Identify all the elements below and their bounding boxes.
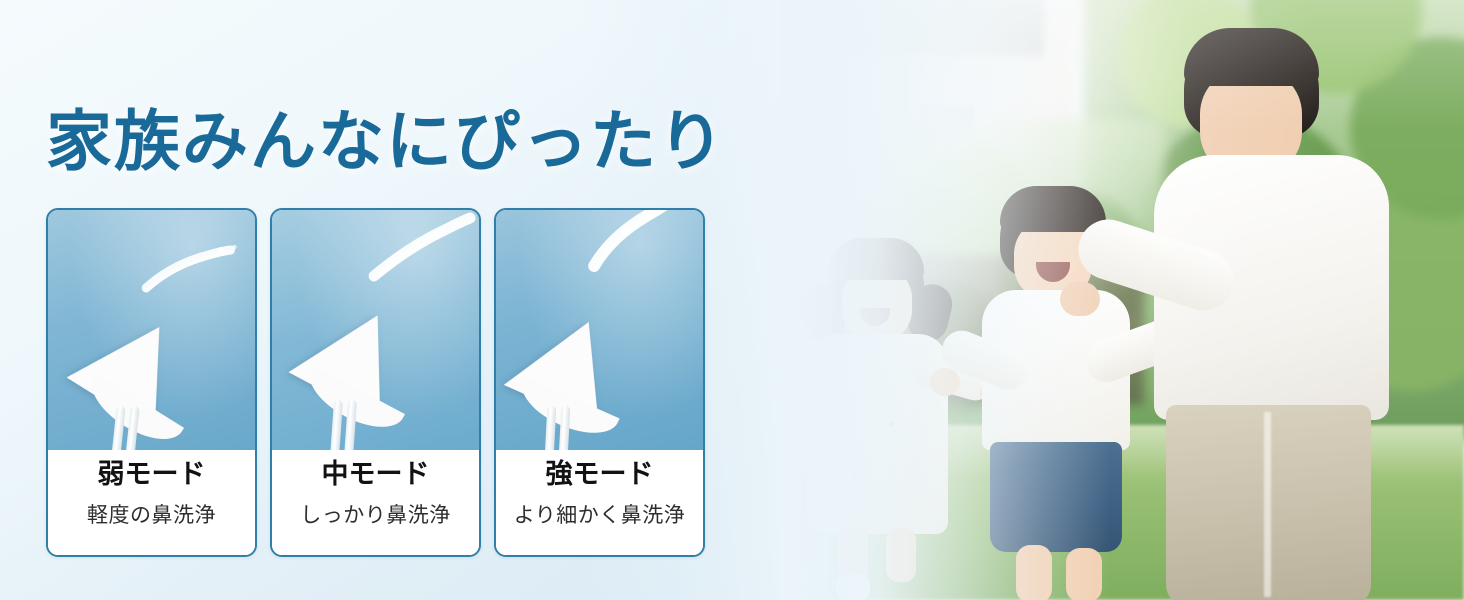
mode-card-list: 弱モード 軽度の鼻洗浄 — [46, 208, 705, 557]
water-jet-icon — [48, 210, 255, 450]
photo-person-girl — [794, 230, 969, 600]
mode-title-text: 弱モード — [98, 459, 206, 489]
photo-roof — [744, 0, 1044, 56]
mode-title-weak: 弱モード — [94, 458, 210, 494]
nozzle-icon — [504, 301, 636, 427]
mode-subtitle-weak: 軽度の鼻洗浄 — [48, 503, 255, 528]
nozzle-tube-icon — [111, 406, 125, 450]
nozzle-tube-icon — [545, 406, 557, 450]
mode-card-label-weak: 弱モード 軽度の鼻洗浄 — [48, 450, 255, 555]
mode-subtitle-medium: しっかり鼻洗浄 — [272, 503, 479, 528]
water-jet-icon — [272, 210, 479, 450]
nozzle-cap-icon — [299, 365, 405, 440]
nozzle-tube-icon — [344, 400, 357, 450]
mode-card-weak[interactable]: 弱モード 軽度の鼻洗浄 — [46, 208, 257, 557]
page-title: 家族みんなにぴったり — [46, 108, 726, 174]
mode-card-image-weak — [48, 210, 255, 450]
mode-title-strong: 強モード — [542, 458, 658, 494]
mode-card-image-medium — [272, 210, 479, 450]
nozzle-tube-icon — [559, 406, 571, 450]
mode-card-strong[interactable]: 強モード より細かく鼻洗浄 — [494, 208, 705, 557]
mode-card-medium[interactable]: 中モード しっかり鼻洗浄 — [270, 208, 481, 557]
nozzle-tube-icon — [125, 406, 139, 450]
mode-title-text: 中モード — [322, 459, 430, 489]
product-feature-banner: 家族みんなにぴったり 弱モード — [0, 0, 1464, 600]
mode-card-label-strong: 強モード より細かく鼻洗浄 — [496, 450, 703, 555]
mode-subtitle-strong: より細かく鼻洗浄 — [496, 503, 703, 528]
mode-title-medium: 中モード — [318, 458, 434, 494]
mode-title-text: 強モード — [546, 459, 654, 489]
nozzle-tube-icon — [330, 400, 343, 450]
nozzle-icon — [67, 299, 204, 432]
photo-person-father — [1124, 20, 1424, 600]
mode-card-label-medium: 中モード しっかり鼻洗浄 — [272, 450, 479, 555]
water-jet-icon — [496, 210, 703, 450]
nozzle-cap-icon — [80, 373, 184, 450]
mode-card-image-strong — [496, 210, 703, 450]
nozzle-cap-icon — [512, 376, 619, 446]
nozzle-icon — [288, 291, 423, 421]
banner-content: 家族みんなにぴったり 弱モード — [0, 0, 760, 600]
